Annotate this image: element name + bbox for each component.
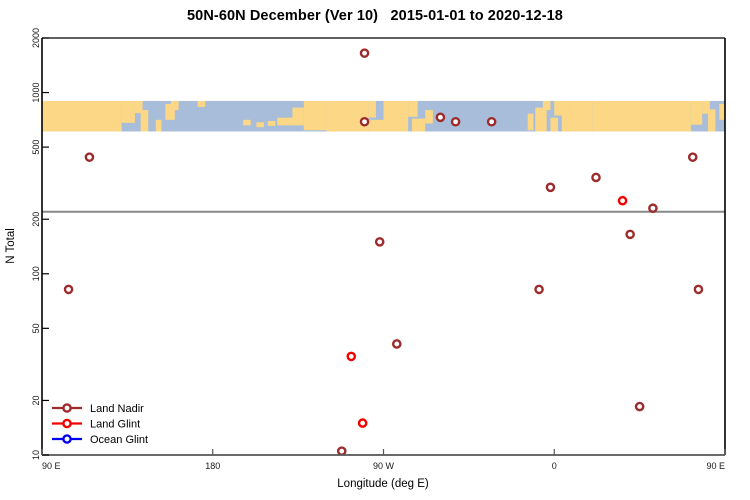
- y-tick-label: 20: [31, 395, 41, 405]
- data-point-land-nadir: [636, 403, 643, 410]
- data-point-land-nadir: [547, 184, 554, 191]
- map-land-shape: [368, 120, 383, 132]
- x-tick-label: 0: [552, 461, 557, 471]
- y-tick-label: 2000: [31, 28, 41, 48]
- latitude-map-band: [42, 101, 725, 132]
- map-land-shape: [277, 118, 292, 126]
- data-point-land-nadir: [689, 154, 696, 161]
- data-point-land-nadir: [376, 238, 383, 245]
- y-tick-label: 1000: [31, 83, 41, 103]
- scatter-plot: 10205010020050010002000 90 E18090 W090 E…: [0, 0, 750, 500]
- data-point-land-nadir: [627, 231, 634, 238]
- map-land-shape: [243, 120, 251, 126]
- data-point-land-glint: [359, 419, 366, 426]
- y-tick-label: 200: [31, 212, 41, 227]
- x-tick-label: 180: [205, 461, 220, 471]
- data-point-land-glint: [619, 197, 626, 204]
- data-point-land-nadir: [393, 340, 400, 347]
- data-point-land-nadir: [488, 118, 495, 125]
- map-land-shape: [122, 101, 135, 123]
- legend: Land NadirLand GlintOcean Glint: [52, 403, 148, 446]
- y-tick-label: 10: [31, 450, 41, 460]
- x-tick-label: 90 E: [42, 461, 61, 471]
- data-point-land-glint: [348, 353, 355, 360]
- map-land-shape: [268, 121, 276, 126]
- map-land-shape: [292, 108, 303, 126]
- map-land-shape: [528, 114, 534, 131]
- data-point-land-nadir: [437, 114, 444, 121]
- legend-label: Land Nadir: [90, 403, 144, 415]
- map-land-shape: [408, 101, 417, 117]
- map-land-shape: [543, 101, 551, 110]
- map-land-shape: [368, 101, 376, 118]
- legend-marker: [63, 420, 70, 427]
- y-tick-label: 100: [31, 266, 41, 281]
- data-point-land-nadir: [86, 154, 93, 161]
- map-land-shape: [156, 120, 162, 132]
- map-land-shape: [42, 101, 122, 132]
- map-land-shape: [535, 108, 546, 132]
- data-point-land-nadir: [65, 286, 72, 293]
- data-point-land-nadir: [535, 286, 542, 293]
- legend-marker: [63, 404, 70, 411]
- data-point-land-nadir: [695, 286, 702, 293]
- data-point-land-nadir: [361, 50, 368, 57]
- legend-marker: [63, 435, 70, 442]
- chart-figure: 50N-60N December (Ver 10) 2015-01-01 to …: [0, 0, 750, 500]
- map-land-shape: [384, 101, 409, 132]
- y-axis-title: N Total: [5, 228, 17, 264]
- map-land-shape: [141, 110, 149, 131]
- x-tick-label: 90 E: [706, 461, 725, 471]
- map-land-shape: [304, 101, 327, 130]
- x-tick-label: 90 W: [373, 461, 395, 471]
- plot-background: [42, 38, 725, 455]
- map-land-shape: [256, 122, 264, 127]
- map-land-shape: [412, 119, 425, 132]
- map-land-shape: [171, 101, 179, 110]
- legend-label: Ocean Glint: [90, 434, 148, 446]
- map-land-shape: [569, 101, 592, 132]
- map-land-shape: [708, 109, 716, 131]
- data-point-land-nadir: [338, 448, 345, 455]
- legend-label: Land Glint: [90, 419, 140, 431]
- data-point-land-nadir: [361, 118, 368, 125]
- y-tick-label: 500: [31, 140, 41, 155]
- data-point-land-nadir: [649, 205, 656, 212]
- map-land-shape: [592, 101, 691, 132]
- map-land-shape: [425, 110, 433, 123]
- y-tick-label: 50: [31, 323, 41, 333]
- map-land-shape: [691, 101, 702, 125]
- data-point-land-nadir: [452, 118, 459, 125]
- map-land-shape: [327, 101, 369, 132]
- data-point-land-nadir: [592, 174, 599, 181]
- x-axis-title: Longitude (deg E): [337, 478, 429, 490]
- map-land-shape: [550, 118, 558, 132]
- map-land-shape: [719, 104, 725, 120]
- map-land-shape: [198, 101, 206, 107]
